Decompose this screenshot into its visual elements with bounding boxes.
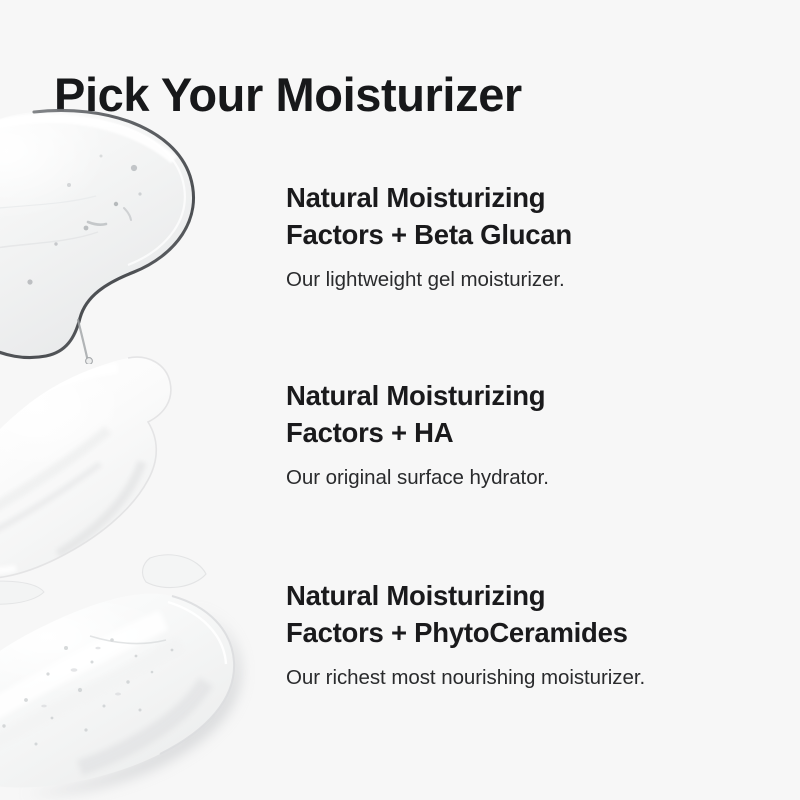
rich-cream-swatch-image bbox=[0, 578, 280, 800]
product-text-gel: Natural Moisturizing Factors + Beta Gluc… bbox=[286, 180, 572, 293]
page-title: Pick Your Moisturizer bbox=[54, 70, 522, 121]
product-heading-line-2: Factors + PhytoCeramides bbox=[286, 615, 645, 652]
product-heading-line-1: Natural Moisturizing bbox=[286, 378, 549, 415]
product-subtitle: Our lightweight gel moisturizer. bbox=[286, 254, 572, 294]
product-text-rich-cream: Natural Moisturizing Factors + PhytoCera… bbox=[286, 578, 645, 691]
product-text-cream: Natural Moisturizing Factors + HA Our or… bbox=[286, 378, 549, 491]
product-heading-line-2: Factors + HA bbox=[286, 415, 549, 452]
product-heading-line-1: Natural Moisturizing bbox=[286, 180, 572, 217]
moisturizer-selection-page: Pick Your Moisturizer bbox=[0, 0, 800, 800]
product-heading-line-2: Factors + Beta Glucan bbox=[286, 217, 572, 254]
white-cream-swatch-image bbox=[0, 352, 210, 600]
product-subtitle: Our original surface hydrator. bbox=[286, 452, 549, 492]
product-subtitle: Our richest most nourishing moisturizer. bbox=[286, 652, 645, 692]
clear-gel-swatch-image bbox=[0, 104, 248, 364]
product-heading-line-1: Natural Moisturizing bbox=[286, 578, 645, 615]
